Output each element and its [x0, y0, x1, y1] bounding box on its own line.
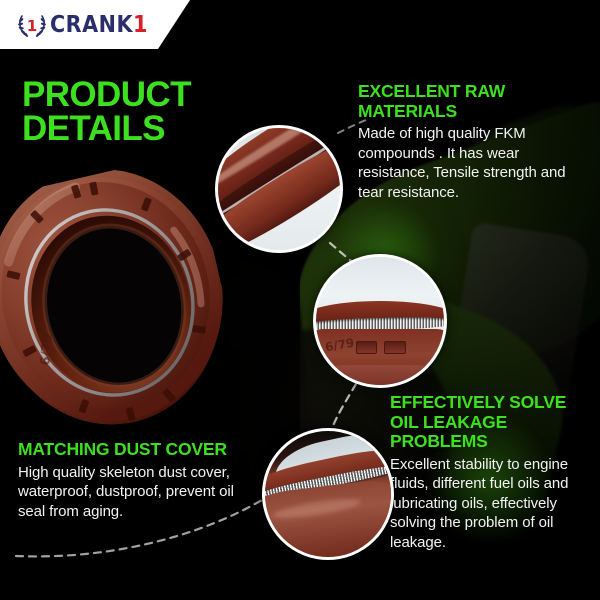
- feature-heading-raw-materials: EXCELLENT RAW MATERIALS: [358, 82, 590, 121]
- svg-text:6/79: 6/79: [38, 333, 56, 366]
- brand-name: CRANK1: [50, 14, 148, 37]
- callout-bubble-spring: 6/79: [313, 254, 447, 388]
- callout-bubble-raw-material: [215, 125, 343, 253]
- feature-block-raw-materials: EXCELLENT RAW MATERIALS Made of high qua…: [358, 82, 590, 202]
- feature-body-oil-leakage: Excellent stability to engine fluids, di…: [390, 455, 590, 553]
- spring-closeup: 6/79: [316, 257, 444, 385]
- feature-body-raw-materials: Made of high quality FKM compounds . It …: [358, 124, 590, 202]
- page-title: PRODUCT DETAILS: [22, 78, 191, 147]
- product-details-graphic: 6/79 6/79: [0, 0, 600, 600]
- brand-name-accent: 1: [133, 12, 148, 38]
- laurel-wreath-icon: 1: [18, 11, 46, 39]
- feature-body-dust-cover: High quality skeleton dust cover, waterp…: [18, 463, 236, 522]
- brand-name-main: CRANK: [50, 12, 133, 38]
- raw-material-closeup: [218, 128, 340, 250]
- callout-bubble-sealing-lip: [262, 428, 394, 560]
- feature-heading-dust-cover: MATCHING DUST COVER: [18, 440, 236, 460]
- feature-block-dust-cover: MATCHING DUST COVER High quality skeleto…: [18, 440, 236, 521]
- svg-text:1: 1: [27, 17, 37, 35]
- header-banner: 1 CRANK1: [0, 0, 190, 49]
- sealing-lip-closeup: [265, 431, 391, 557]
- feature-heading-oil-leakage: EFFECTIVELY SOLVE OIL LEAKAGE PROBLEMS: [390, 393, 590, 452]
- page-title-line-1: PRODUCT: [22, 78, 191, 112]
- feature-block-oil-leakage: EFFECTIVELY SOLVE OIL LEAKAGE PROBLEMS E…: [390, 393, 590, 552]
- page-title-line-2: DETAILS: [22, 112, 191, 146]
- brand-logo[interactable]: 1 CRANK1: [18, 11, 148, 39]
